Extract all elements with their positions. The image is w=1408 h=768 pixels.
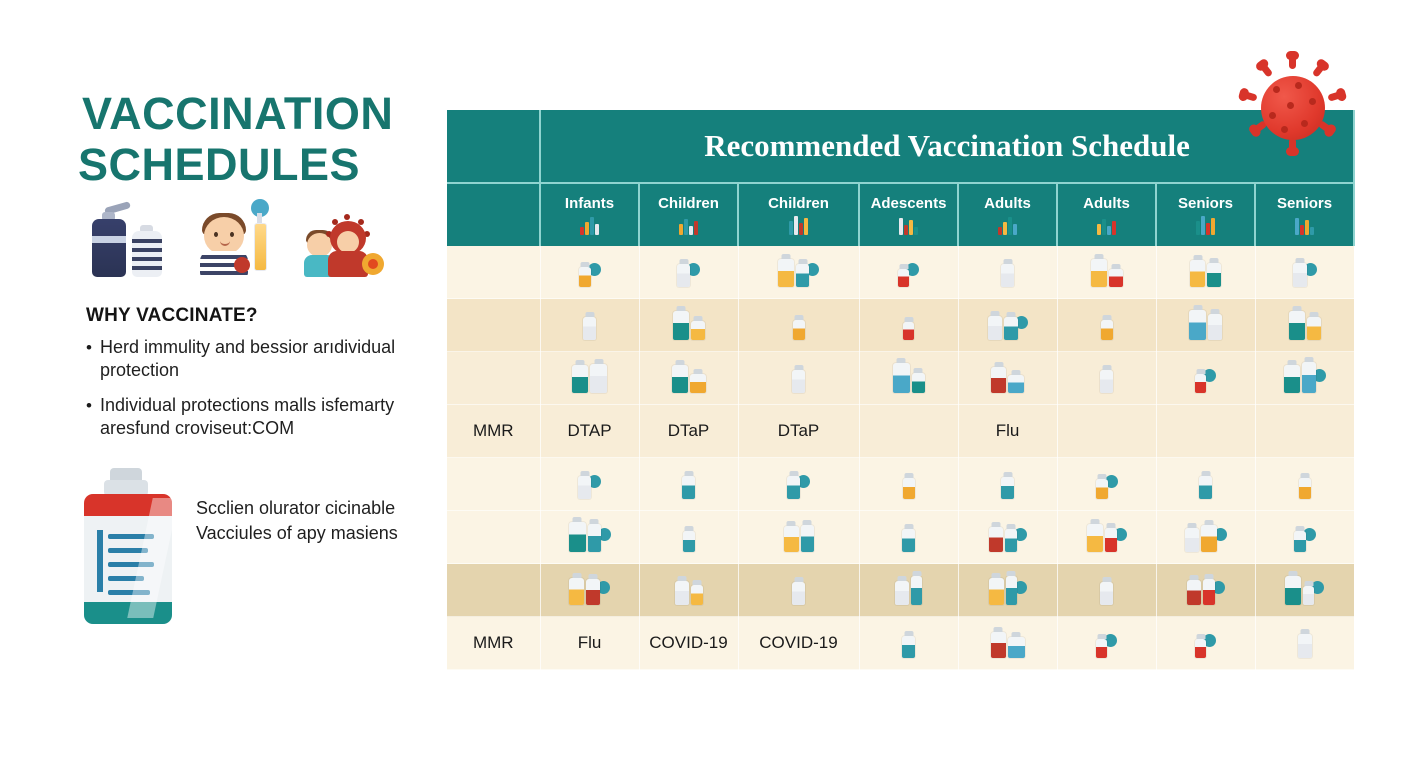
vaccine-vial-icon [542, 215, 637, 235]
table-cell[interactable] [738, 299, 859, 352]
table-header-row: InfantsChildrenChildrenAdescentsAdultsAd… [447, 183, 1354, 246]
child-badge-icon [778, 253, 819, 287]
child-badge-icon [569, 571, 610, 605]
bullet-marker: • [86, 336, 100, 382]
table-cell[interactable] [447, 564, 540, 617]
child-with-syringe-illustration [196, 201, 282, 277]
vaccine-name: Flu [996, 421, 1020, 440]
table-cell[interactable] [639, 352, 738, 405]
table-cell[interactable] [1057, 511, 1156, 564]
table-cell[interactable] [540, 458, 639, 511]
header-cell-empty [447, 183, 540, 246]
child-bottle-icon [903, 306, 914, 340]
bottle-lemon-icon [682, 465, 695, 499]
vial-pair-icon [579, 253, 601, 287]
heart-bottle-icon [991, 624, 1025, 658]
table-cell[interactable] [859, 564, 958, 617]
table-row [447, 564, 1354, 617]
table-cell[interactable] [447, 299, 540, 352]
why-vaccinate-block: WHY VACCINATE? • Herd immulity and bessi… [86, 305, 396, 452]
table-cell[interactable] [1057, 299, 1156, 352]
table-cell[interactable] [738, 564, 859, 617]
vaccine-vial-icon [78, 468, 183, 628]
table-cell[interactable] [859, 299, 958, 352]
table-cell[interactable] [540, 299, 639, 352]
bottle-badge-icon [792, 359, 805, 393]
virus-cell-icon [1257, 215, 1352, 235]
table-cell[interactable] [540, 564, 639, 617]
child-syrup-icon [572, 359, 607, 393]
table-cell[interactable] [859, 511, 958, 564]
bottle-target-icon [1187, 571, 1225, 605]
table-cell[interactable] [958, 511, 1057, 564]
table-cell[interactable] [958, 617, 1057, 670]
vaccine-name: MMR [473, 633, 514, 652]
table-row: MMRFluCOVID-19COVID-19 [447, 617, 1354, 670]
red-heart-bottle-icon [1100, 359, 1113, 393]
table-cell[interactable] [1156, 564, 1255, 617]
red-bottle-badge-icon [902, 518, 915, 552]
table-cell[interactable] [1156, 246, 1255, 299]
vaccine-vial-block: Scclien olurator cicinable Vacciules of … [78, 468, 418, 638]
header-cell-seniors[interactable]: Seniors [1255, 183, 1354, 246]
red-white-vial-icon [991, 359, 1024, 393]
table-cell[interactable] [540, 511, 639, 564]
amber-teal-bottle-icon [583, 306, 596, 340]
rainbow-bottle-icon [989, 571, 1027, 605]
list-item: • Herd immulity and bessior arıdividual … [86, 336, 396, 382]
child-badge-icon [898, 253, 919, 287]
shield-badge-icon [903, 465, 915, 499]
header-label: Seniors [1158, 195, 1253, 212]
table-cell[interactable] [447, 352, 540, 405]
table-cell[interactable] [639, 458, 738, 511]
rainbow-bottle-icon [1298, 624, 1312, 658]
bottle-syringe-icon [1185, 518, 1227, 552]
table-cell[interactable] [1057, 405, 1156, 458]
table-cell[interactable] [1057, 246, 1156, 299]
title-line-2: SCHEDULES [78, 139, 422, 190]
pill-bottle-icon [960, 215, 1055, 235]
table-cell[interactable] [859, 405, 958, 458]
pouch-badge-icon [569, 518, 611, 552]
vaccine-name: Flu [578, 633, 602, 652]
bullet-text: Individual protections malls isfemarty a… [100, 394, 396, 440]
table-cell[interactable] [639, 564, 738, 617]
header-cell-adescents[interactable]: Adescents [859, 183, 958, 246]
nasal-spray-bottles-illustration [88, 205, 170, 277]
title-line-1: VACCINATION [82, 88, 422, 139]
heart-bottle-icon [1195, 624, 1216, 658]
page-title: VACCINATION SCHEDULES [82, 88, 422, 190]
table-row [447, 246, 1354, 299]
header-cell-adults[interactable]: Adults [958, 183, 1057, 246]
illustration-strip [88, 195, 378, 277]
amber-bottle-icon [1293, 253, 1317, 287]
table-cell[interactable] [1156, 617, 1255, 670]
table-row [447, 458, 1354, 511]
table-cell[interactable] [1255, 511, 1354, 564]
table-cell[interactable] [859, 352, 958, 405]
table-cell[interactable] [639, 246, 738, 299]
ribbon-bottle-icon [787, 465, 810, 499]
table-cell[interactable] [1057, 564, 1156, 617]
bottle-badge-icon [1299, 465, 1311, 499]
header-label: Adults [960, 195, 1055, 212]
amber-red-bottle-icon [1289, 306, 1321, 340]
table-cell[interactable] [958, 458, 1057, 511]
table-cell[interactable] [1156, 352, 1255, 405]
vaccination-schedule-table: Recommended Vaccination Schedule Infants… [447, 110, 1331, 660]
why-vaccinate-heading: WHY VACCINATE? [86, 305, 396, 327]
amber-target-icon [1096, 624, 1117, 658]
table-cell[interactable] [738, 511, 859, 564]
schedule-table: Recommended Vaccination Schedule Infants… [447, 110, 1355, 670]
vaccine-name: COVID-19 [649, 633, 727, 652]
white-bottle-pair-icon [1100, 571, 1113, 605]
header-label: Seniors [1257, 195, 1352, 212]
bottle-label-icon [1087, 518, 1127, 552]
table-cell[interactable]: COVID-19 [738, 617, 859, 670]
vaccine-bottle-icon [740, 215, 857, 235]
table-cell[interactable] [639, 299, 738, 352]
baby-badge-icon [672, 359, 706, 393]
vaccine-name: COVID-19 [759, 633, 837, 652]
table-cell[interactable] [447, 458, 540, 511]
white-bottle-icon [1195, 359, 1216, 393]
table-cell[interactable]: Flu [540, 617, 639, 670]
table-cell[interactable] [1057, 617, 1156, 670]
header-label: Adults [1059, 195, 1154, 212]
table-cell[interactable]: MMR [447, 617, 540, 670]
table-cell[interactable] [1057, 458, 1156, 511]
table-cell[interactable]: COVID-19 [639, 617, 738, 670]
bottle-box-icon [1294, 518, 1316, 552]
vaccine-name: MMR [473, 421, 514, 440]
teal-bottle-badge-icon [675, 571, 703, 605]
bottle-badge-icon [683, 518, 695, 552]
syringe-bottle-icon [1001, 253, 1014, 287]
table-corner [447, 110, 540, 183]
vaccine-bottle-icon [641, 215, 736, 235]
table-cell[interactable] [1255, 458, 1354, 511]
header-label: Children [641, 195, 736, 212]
table-cell[interactable]: DTaP [639, 405, 738, 458]
header-cell-adults[interactable]: Adults [1057, 183, 1156, 246]
vaccine-name: DTaP [778, 421, 820, 440]
table-cell[interactable] [540, 352, 639, 405]
amber-bottle-icon [1189, 306, 1222, 340]
mother-child-icon [988, 306, 1028, 340]
table-cell[interactable] [1057, 352, 1156, 405]
table-cell[interactable] [540, 246, 639, 299]
table-body: MMRDTAPDTaPDTaPFluMMRFluCOVID-19COVID-19 [447, 246, 1354, 670]
table-cell[interactable] [447, 246, 540, 299]
bottle-card-icon [1199, 465, 1212, 499]
red-bottle-badge-icon [784, 518, 814, 552]
virus-cell-icon [1158, 215, 1253, 235]
table-row [447, 299, 1354, 352]
spray-bottle-pair-icon [673, 306, 705, 340]
header-label: Children [740, 195, 857, 212]
table-cell[interactable] [1255, 405, 1354, 458]
vial-caption: Scclien olurator cicinable Vacciules of … [196, 496, 411, 546]
header-cell-seniors[interactable]: Seniors [1156, 183, 1255, 246]
table-cell[interactable] [859, 458, 958, 511]
table-title: Recommended Vaccination Schedule [540, 110, 1354, 183]
table-cell[interactable] [958, 246, 1057, 299]
table-cell[interactable] [639, 511, 738, 564]
child-bottle-icon [895, 571, 922, 605]
vaccine-name: DTAP [567, 421, 611, 440]
table-row: MMRDTAPDTaPDTaPFlu [447, 405, 1354, 458]
table-cell[interactable] [958, 299, 1057, 352]
bullet-marker: • [86, 394, 100, 440]
amber-jar-icon [1284, 359, 1326, 393]
header-label: Adescents [861, 195, 956, 212]
table-cell[interactable]: Flu [958, 405, 1057, 458]
table-cell[interactable]: DTAP [540, 405, 639, 458]
bullet-text: Herd immulity and bessior arıdividual pr… [100, 336, 396, 382]
table-cell[interactable]: DTaP [738, 405, 859, 458]
table-cell[interactable] [1255, 617, 1354, 670]
red-white-vial-icon [1101, 306, 1113, 340]
table-cell[interactable] [1156, 458, 1255, 511]
dropper-virus-icon [677, 253, 700, 287]
vaccine-name: DTaP [668, 421, 710, 440]
table-cell[interactable] [447, 511, 540, 564]
table-cell[interactable] [859, 246, 958, 299]
table-row [447, 352, 1354, 405]
amber-bottle-icon [1091, 253, 1123, 287]
list-item: • Individual protections malls isfemarty… [86, 394, 396, 440]
table-cell[interactable] [1255, 564, 1354, 617]
ampoule-icon [1059, 215, 1154, 235]
left-panel: VACCINATION SCHEDULES [0, 0, 440, 768]
red-vial-icon [893, 359, 925, 393]
header-cell-infants[interactable]: Infants [540, 183, 639, 246]
vaccine-jar-icon [861, 215, 956, 235]
children-with-virus-mascot-illustration [302, 205, 382, 277]
table-cell[interactable] [859, 617, 958, 670]
table-cell[interactable] [1255, 246, 1354, 299]
bottle-leaf-icon [1096, 465, 1118, 499]
table-cell[interactable] [738, 352, 859, 405]
header-cell-children[interactable]: Children [639, 183, 738, 246]
amber-red-bottle-icon [1190, 253, 1221, 287]
table-cell[interactable] [1156, 299, 1255, 352]
table-cell[interactable] [1255, 299, 1354, 352]
header-cell-children[interactable]: Children [738, 183, 859, 246]
coronavirus-icon [1243, 58, 1343, 158]
table-cell[interactable] [958, 352, 1057, 405]
table-cell[interactable]: MMR [447, 405, 540, 458]
table-cell[interactable] [1255, 352, 1354, 405]
child-badge-icon [1001, 465, 1014, 499]
child-card-icon [793, 306, 805, 340]
red-yellow-bottle-icon [989, 518, 1027, 552]
rainbow-bottle-icon [902, 624, 915, 658]
bottle-boxes-icon [578, 465, 601, 499]
infographic-page: VACCINATION SCHEDULES [0, 0, 1408, 768]
table-cell[interactable] [1156, 405, 1255, 458]
table-cell[interactable] [738, 246, 859, 299]
table-cell[interactable] [958, 564, 1057, 617]
child-heart-icon [792, 571, 805, 605]
table-title-row: Recommended Vaccination Schedule [447, 110, 1354, 183]
table-cell[interactable] [738, 458, 859, 511]
table-cell[interactable] [1156, 511, 1255, 564]
red-bottle-pair-icon [1285, 571, 1324, 605]
header-label: Infants [542, 195, 637, 212]
table-row [447, 511, 1354, 564]
